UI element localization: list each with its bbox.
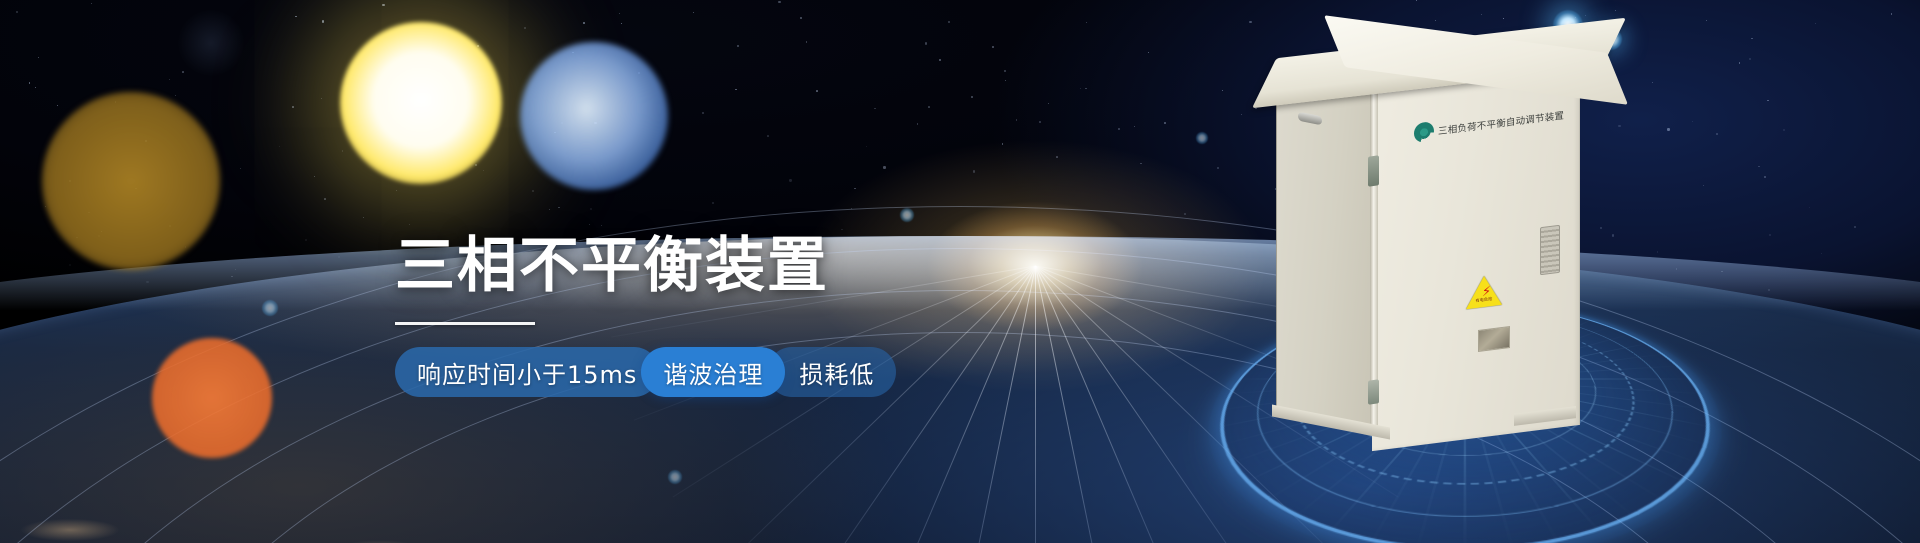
product-cabinet-image: 三相负荷不平衡自动调节装置 ⚡ 有电危险 xyxy=(1302,28,1632,478)
bokeh-orange-icon xyxy=(152,338,272,458)
brand-logo-icon xyxy=(1414,121,1434,144)
cabinet-nameplate xyxy=(1478,326,1510,352)
spark-light-icon xyxy=(262,300,278,316)
feature-tag-list: 响应时间小于15ms 谐波治理 损耗低 xyxy=(395,347,896,397)
feature-tag-low-loss[interactable]: 损耗低 xyxy=(767,347,896,397)
cabinet-hinge-lower xyxy=(1368,379,1379,404)
spark-light-icon xyxy=(900,208,914,222)
banner-copy-block: 三相不平衡装置 响应时间小于15ms 谐波治理 损耗低 xyxy=(395,236,896,397)
cabinet-side-panel xyxy=(1276,69,1372,436)
bokeh-blue-icon xyxy=(520,42,668,190)
bokeh-gold-icon xyxy=(42,92,220,270)
bokeh-dim-icon xyxy=(178,10,244,76)
banner-headline: 三相不平衡装置 xyxy=(395,236,896,296)
hero-banner: 三相负荷不平衡自动调节装置 ⚡ 有电危险 三相不平衡装置 响应时间小于15ms … xyxy=(0,0,1920,543)
cabinet-hinge-upper xyxy=(1368,155,1379,186)
bokeh-white-icon xyxy=(340,22,502,184)
feature-tag-harmonic[interactable]: 谐波治理 xyxy=(641,347,785,397)
electrical-hazard-sticker: ⚡ 有电危险 xyxy=(1466,274,1502,310)
feature-tag-response-time[interactable]: 响应时间小于15ms xyxy=(395,347,659,397)
headline-divider xyxy=(395,322,535,325)
spark-light-icon xyxy=(1196,132,1208,144)
spark-light-icon xyxy=(668,470,682,484)
cabinet-vent-louver xyxy=(1540,225,1560,276)
